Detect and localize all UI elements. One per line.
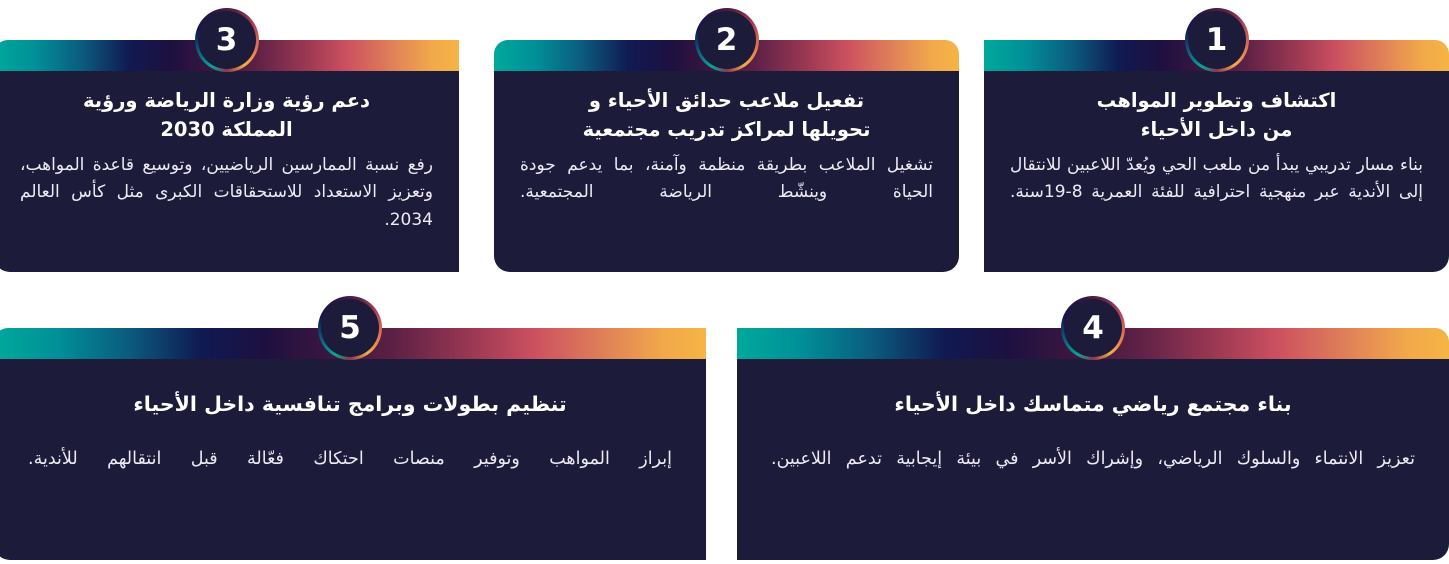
card-1-body: اكتشاف وتطوير المواهب من داخل الأحياء بن… (984, 71, 1449, 272)
card-3-number: 3 (216, 25, 238, 56)
card-3-number-badge: 3 (195, 8, 259, 72)
card-3-description: رفع نسبة الممارسين الرياضيين، وتوسيع قاع… (20, 152, 433, 235)
card-3-body: دعم رؤية وزارة الرياضة ورؤية المملكة 203… (0, 71, 459, 272)
card-4-body: بناء مجتمع رياضي متماسك داخل الأحياء تعز… (737, 359, 1449, 560)
card-1-description: بناء مسار تدريبي يبدأ من ملعب الحي ويُعد… (1010, 152, 1423, 207)
card-1-title: اكتشاف وتطوير المواهب من داخل الأحياء (1010, 87, 1423, 145)
info-card-1[interactable]: 1 اكتشاف وتطوير المواهب من داخل الأحياء … (984, 40, 1449, 272)
infographic-board: 1 اكتشاف وتطوير المواهب من داخل الأحياء … (0, 0, 1449, 564)
card-2-body: تفعيل ملاعب حدائق الأحياء و تحويلها لمرا… (494, 71, 959, 272)
info-card-2[interactable]: 2 تفعيل ملاعب حدائق الأحياء و تحويلها لم… (494, 40, 959, 272)
card-2-number-badge: 2 (695, 8, 759, 72)
card-2-number: 2 (716, 25, 738, 56)
card-5-number: 5 (339, 313, 361, 344)
card-1-number-badge: 1 (1185, 8, 1249, 72)
info-card-5[interactable]: 5 تنظيم بطولات وبرامج تنافسية داخل الأحي… (0, 328, 706, 560)
card-4-number-badge: 4 (1061, 296, 1125, 360)
card-3-title: دعم رؤية وزارة الرياضة ورؤية المملكة 203… (20, 87, 433, 145)
card-1-number: 1 (1206, 25, 1228, 56)
card-4-number: 4 (1082, 313, 1104, 344)
card-5-number-badge: 5 (318, 296, 382, 360)
card-2-description: تشغيل الملاعب بطريقة منظمة وآمنة، بما يد… (520, 152, 933, 207)
card-5-description: إبراز المواهب وتوفير منصات احتكاك فعّالة… (28, 442, 672, 476)
card-5-title: تنظيم بطولات وبرامج تنافسية داخل الأحياء (28, 389, 672, 420)
info-card-3[interactable]: 3 دعم رؤية وزارة الرياضة ورؤية المملكة 2… (0, 40, 459, 272)
card-4-description: تعزيز الانتماء والسلوك الرياضي، وإشراك ا… (771, 442, 1415, 476)
card-4-title: بناء مجتمع رياضي متماسك داخل الأحياء (771, 389, 1415, 420)
card-5-body: تنظيم بطولات وبرامج تنافسية داخل الأحياء… (0, 359, 706, 560)
card-2-title: تفعيل ملاعب حدائق الأحياء و تحويلها لمرا… (520, 87, 933, 145)
info-card-4[interactable]: 4 بناء مجتمع رياضي متماسك داخل الأحياء ت… (737, 328, 1449, 560)
